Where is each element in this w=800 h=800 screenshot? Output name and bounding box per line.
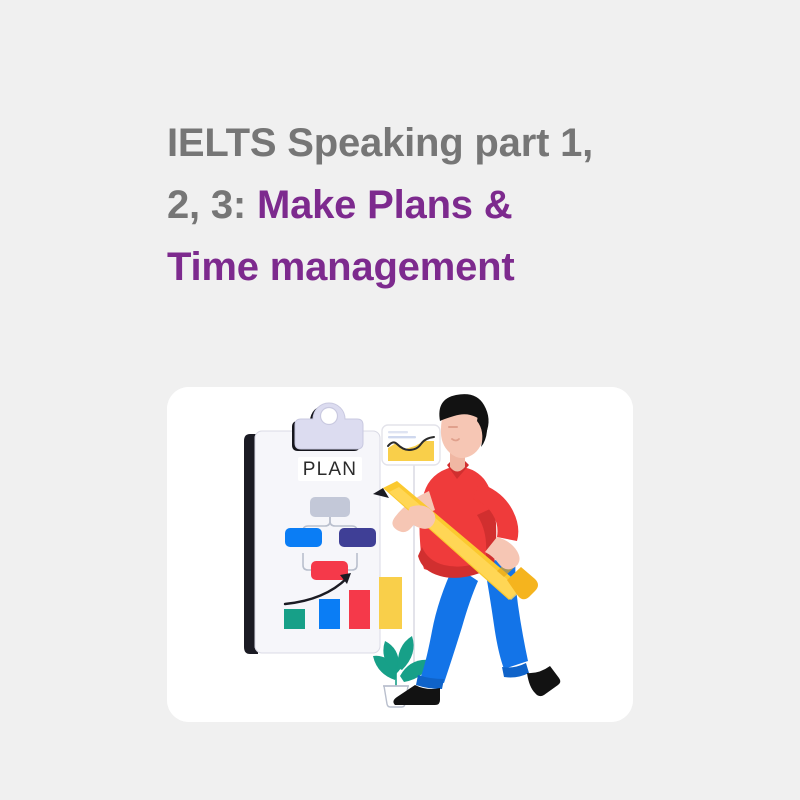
- plan-label: PLAN: [298, 457, 362, 481]
- bar-3: [349, 590, 370, 629]
- flowchart-node-left: [285, 528, 322, 547]
- flowchart-node-right: [339, 528, 376, 547]
- bar-2: [319, 599, 340, 629]
- bar-1: [284, 609, 305, 629]
- illustration-card: PLAN: [167, 387, 633, 722]
- page-title-line-2-highlight: Make Plans &: [257, 183, 513, 227]
- planning-illustration: PLAN: [167, 387, 633, 722]
- page-title-line-1: IELTS Speaking part 1,: [167, 112, 667, 174]
- bar-4: [379, 577, 402, 629]
- plan-label-text: PLAN: [303, 459, 357, 480]
- page-title: IELTS Speaking part 1, 2, 3: Make Plans …: [167, 112, 667, 298]
- flowchart-node-top: [310, 497, 350, 517]
- page-root: IELTS Speaking part 1, 2, 3: Make Plans …: [0, 0, 800, 800]
- page-title-line-2: 2, 3: Make Plans &: [167, 174, 667, 236]
- page-title-line-3-highlight: Time management: [167, 236, 667, 298]
- page-title-line-2-prefix: 2, 3:: [167, 183, 257, 227]
- mini-chart-card: [382, 425, 440, 465]
- clipboard: PLAN: [244, 403, 402, 654]
